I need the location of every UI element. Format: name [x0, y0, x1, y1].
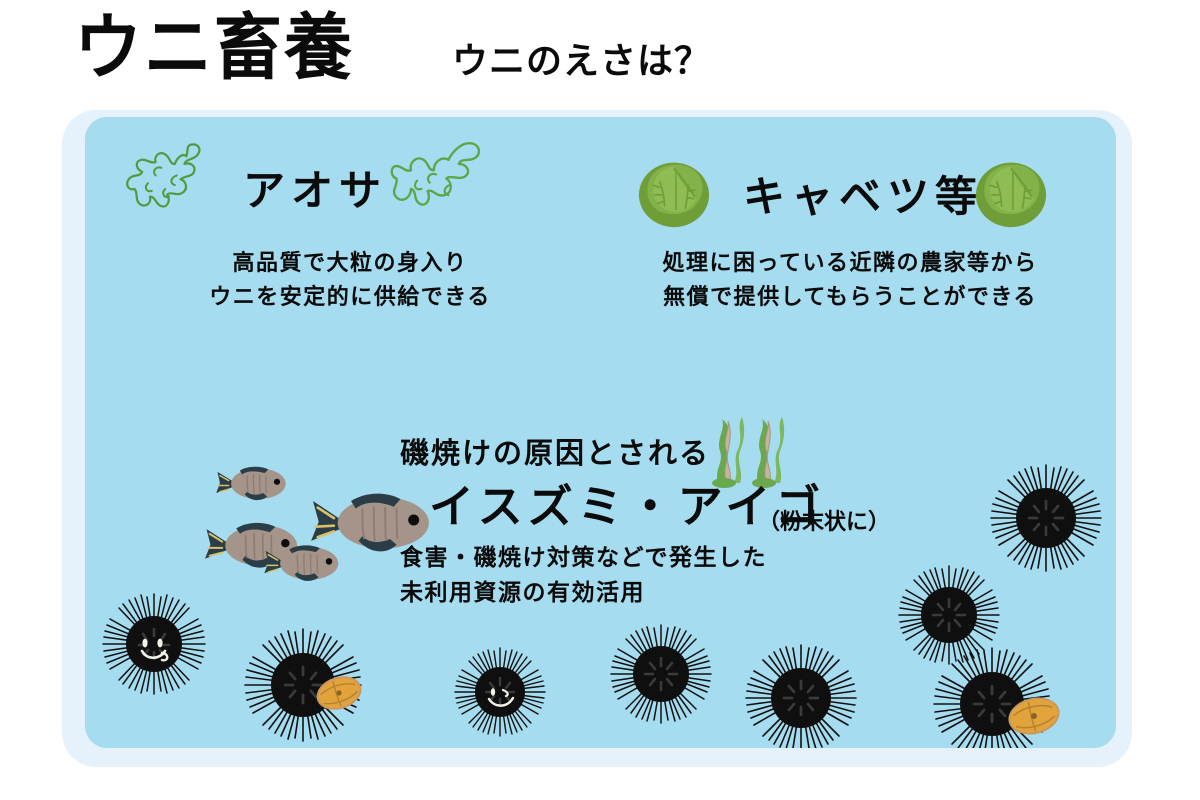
- food-label-aosa: アオサ: [243, 167, 387, 215]
- fish-desc-text: 食害・磯焼け対策などで発生した 未利用資源の有効活用: [400, 541, 767, 611]
- sea-urchin-icon: [453, 645, 547, 739]
- cabbage-icon: [636, 157, 712, 229]
- infographic-stage: ウニ畜養 ウニのえさは？ アオサ 高品質で大粒の身入り ウニを安定的に供給できる: [0, 0, 1200, 800]
- seaweed-outline-icon: [123, 139, 219, 235]
- content-panel: アオサ 高品質で大粒の身入り ウニを安定的に供給できる: [85, 117, 1116, 748]
- page-title: ウニ畜養: [74, 8, 354, 91]
- seaweed-sprig-icon: [704, 415, 794, 487]
- cabbage-icon: [973, 157, 1049, 229]
- food-label-cabbage: キャベツ等: [743, 173, 983, 221]
- food-desc-cabbage: 処理に困っている近隣の農家等から 無償で提供してもらうことができる: [585, 247, 1115, 315]
- header: ウニ畜養 ウニのえさは？: [0, 0, 1200, 110]
- sea-urchin-icon: [745, 642, 857, 748]
- fish-lead-text: 磯焼けの原因とされる: [400, 435, 710, 471]
- food-desc-line: 高品質で大粒の身入り: [115, 247, 585, 281]
- food-desc-line: 無償で提供してもらうことができる: [585, 281, 1115, 315]
- sea-urchin-icon: [897, 563, 1001, 667]
- sea-urchin-icon: [990, 462, 1102, 574]
- sea-urchin-icon: [930, 642, 1090, 748]
- sea-urchin-icon: [243, 627, 381, 745]
- food-desc-line: 処理に困っている近隣の農家等から: [585, 247, 1115, 281]
- fish-note-text: （粉末状に）: [758, 509, 890, 537]
- food-desc-line: ウニを安定的に供給できる: [115, 281, 585, 315]
- food-desc-aosa: 高品質で大粒の身入り ウニを安定的に供給できる: [115, 247, 585, 315]
- fish-desc-line: 未利用資源の有効活用: [400, 576, 767, 611]
- fish-desc-line: 食害・磯焼け対策などで発生した: [400, 541, 767, 576]
- seaweed-outline-icon: [385, 139, 491, 243]
- page-subtitle: ウニのえさは？: [452, 40, 711, 84]
- sea-urchin-icon: [609, 622, 713, 726]
- sea-urchin-icon: [99, 589, 209, 699]
